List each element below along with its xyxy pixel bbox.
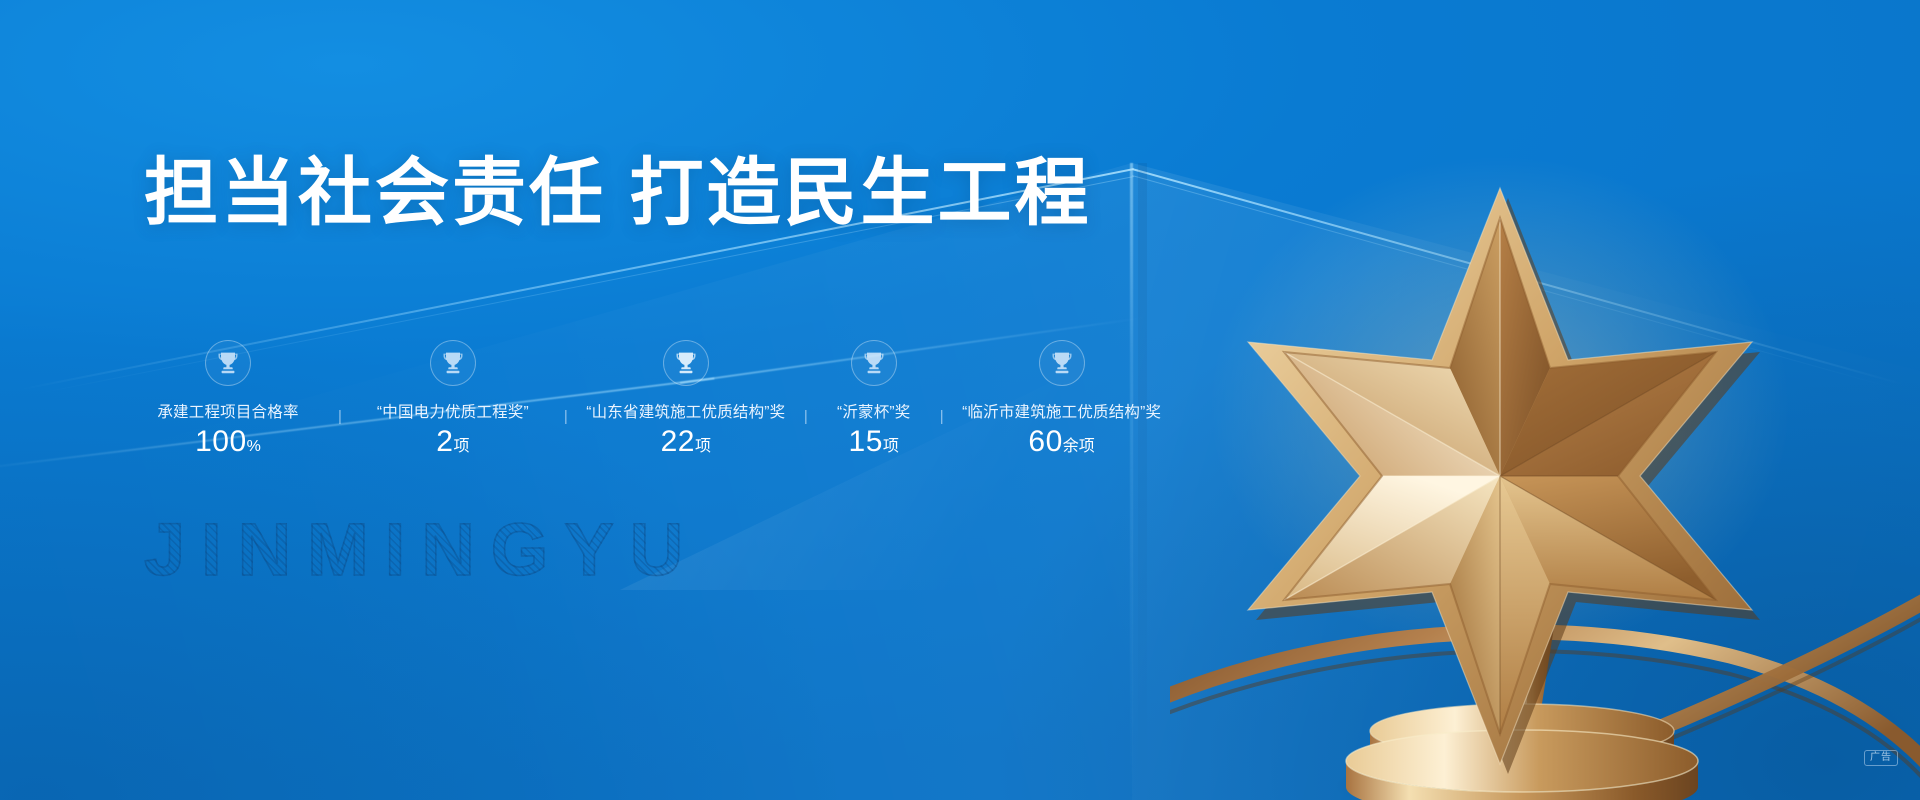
stat-item: “沂蒙杯”奖 15项 [810,340,938,459]
stat-label: “山东省建筑施工优质结构”奖 [586,400,785,422]
trophy-icon [430,340,476,386]
ad-badge: 广告 [1864,750,1898,766]
trophy-icon [1039,340,1085,386]
stat-item: “中国电力优质工程奖” 2项 [344,340,562,459]
stat-value: 100% [195,425,261,459]
stat-separator: | [804,408,808,459]
stat-value: 15项 [849,425,899,459]
stat-label: 承建工程项目合格率 [157,400,298,422]
stat-separator: | [564,408,568,459]
stat-unit: % [247,438,261,455]
stat-value: 2项 [436,425,469,459]
stat-item: 承建工程项目合格率 100% [120,340,336,459]
stat-unit: 项 [453,438,469,455]
stat-number: 100 [195,425,247,458]
stat-unit: 项 [883,438,899,455]
stat-unit: 余项 [1063,438,1095,455]
stat-label: “沂蒙杯”奖 [837,400,911,422]
stat-unit: 项 [695,438,711,455]
stat-separator: | [338,408,342,459]
stat-number: 60 [1028,425,1062,458]
stat-value: 60余项 [1028,425,1094,459]
stat-number: 22 [661,425,695,458]
stat-item: “山东省建筑施工优质结构”奖 22项 [570,340,802,459]
trophy-icon [663,340,709,386]
trophy-icon [205,340,251,386]
stats-row: 承建工程项目合格率 100% | “中国电力优质工程奖” 2项 | [120,340,1178,459]
stat-label: “中国电力优质工程奖” [377,400,529,422]
page-title: 担当社会责任 打造民生工程 [144,152,1092,235]
stat-value: 22项 [661,425,711,459]
stat-label: “临沂市建筑施工优质结构”奖 [962,400,1161,422]
watermark-jinmingyu: JINMINGYU [144,513,699,587]
stat-item: “临沂市建筑施工优质结构”奖 60余项 [946,340,1178,459]
banner-stage: JINMINGYU 担当社会责任 打造民生工程 承建工程项目合格率 100% | [0,0,1920,800]
stat-separator: | [940,408,944,459]
stat-number: 2 [436,425,453,458]
trophy-icon [851,340,897,386]
stat-number: 15 [849,425,883,458]
